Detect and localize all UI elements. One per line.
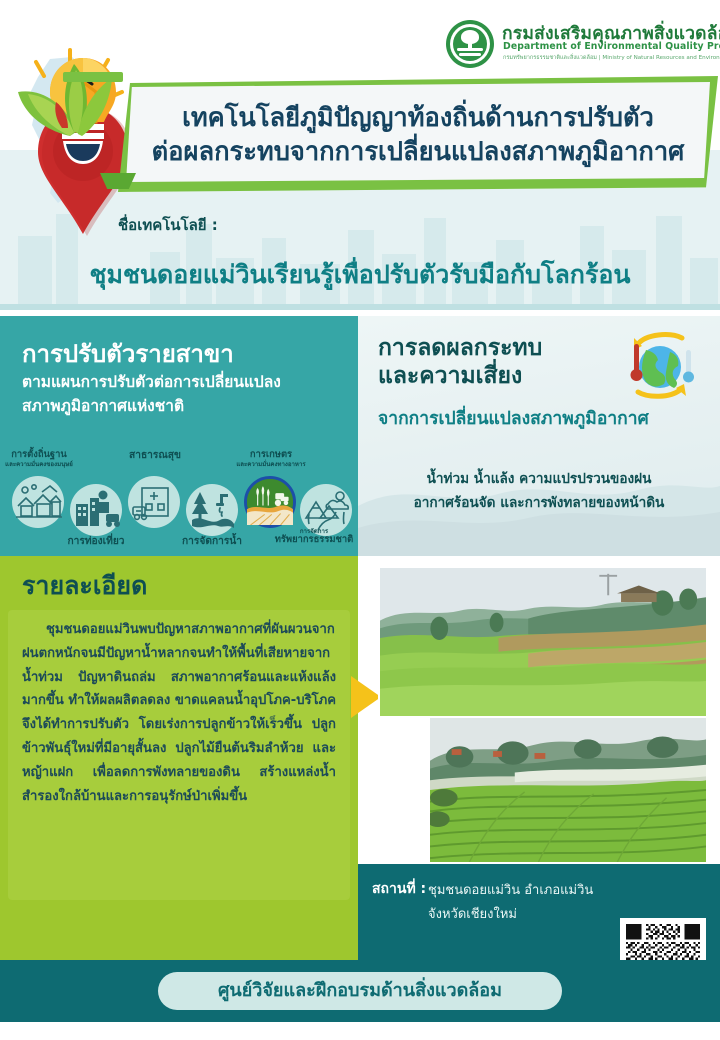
sector-adaptation-panel: การปรับตัวรายสาขา ตามแผนการปรับตัวต่อการ… [0,316,358,556]
yellow-arrow-right-icon [351,676,381,718]
technology-name-label: ชื่อเทคโนโลยี : [118,213,218,237]
sector-label-health: สาธารณสุข [114,450,196,462]
sector-label-water: การจัดการน้ำ [172,536,252,548]
sector-panel-subheading: ตามแผนการปรับตัวต่อการเปลี่ยนแปลง สภาพภู… [22,370,342,418]
location-label: สถานที่ : [372,878,426,900]
water-management-tap-river-icon [186,484,238,536]
poster-root: กรมส่งเสริมคุณภาพสิ่งแวดล้อม Department … [0,0,720,1040]
sector-icon-water[interactable] [186,484,238,536]
org-name-english: Department of Environmental Quality Prom… [503,41,720,52]
deqp-tree-water-emblem-icon [446,20,494,68]
detail-panel-body: ชุมชนดอยแม่วินพบปัญหาสภาพอากาศที่ผันผวนจ… [22,618,336,809]
footer-white-strip [0,1022,720,1040]
risk-reduction-panel: การลดผลกระทบ และความเสี่ยง จากการเปลี่ยน… [358,316,720,556]
detail-text-card: ชุมชนดอยแม่วินพบปัญหาสภาพอากาศที่ผันผวนจ… [8,610,350,900]
risk-panel-heading: การลดผลกระทบ และความเสี่ยง [378,334,542,390]
cold-thermometer-icon [683,350,694,383]
sector-panel-heading: การปรับตัวรายสาขา [22,334,234,373]
agriculture-wheat-tractor-icon [247,479,293,525]
sector-label-tourism: การท่องเที่ยว [58,536,134,548]
risk-panel-subheading: จากการเปลี่ยนแปลงสภาพภูมิอากาศ [378,404,649,432]
sector-icon-row: การตั้งถิ่นฐาน และความมั่นคงของมนุษย์ [0,450,358,554]
center-name-pill: ศูนย์วิจัยและฝึกอบรมด้านสิ่งแวดล้อม [158,972,562,1010]
terraced-rice-field-photo-lower [428,716,708,864]
page-title-line2: ต่อผลกระทบจากการเปลี่ยนแปลงสภาพภูมิอากาศ [126,132,710,172]
globe-thermometer-climate-icon [616,330,702,404]
header-bottom-strip [0,304,720,310]
org-ministry-line: กรมทรัพยากรธรรมชาติและสิ่งแวดล้อม | Mini… [503,54,720,62]
risk-panel-body: น้ำท่วม น้ำแล้ง ความแปรปรวนของฝน อากาศร้… [358,468,720,516]
settlement-village-icon [12,476,64,528]
center-name-text: ศูนย์วิจัยและฝึกอบรมด้านสิ่งแวดล้อม [158,972,562,1010]
sector-icon-health[interactable] [128,476,180,528]
sector-label-agriculture: การเกษตร และความมั่นคงทางอาหาร [228,450,314,468]
location-line1: ชุมชนดอยแม่วิน อำเภอแม่วิน [428,879,593,900]
location-line2: จังหวัดเชียงใหม่ [428,903,517,924]
sector-icon-settlement[interactable] [12,476,64,528]
terraced-rice-field-photo-upper [378,566,708,718]
technology-name-value: ชุมชนดอยแม่วินเรียนรู้เพื่อปรับตัวรับมือ… [0,255,720,295]
public-health-hospital-icon [128,476,180,528]
tourism-city-traveler-icon [70,484,122,536]
sector-icon-agriculture[interactable] [244,476,296,528]
ribbon-tab-decoration [63,72,123,82]
sector-label-settlement: การตั้งถิ่นฐาน และความมั่นคงของมนุษย์ [0,450,78,468]
sector-icon-tourism[interactable] [70,484,122,536]
deqp-logo-block: กรมส่งเสริมคุณภาพสิ่งแวดล้อม Department … [446,19,714,71]
detail-panel-heading: รายละเอียด [22,566,147,606]
detail-panel: รายละเอียด ชุมชนดอยแม่วินพบปัญหาสภาพอากา… [0,556,358,960]
title-ribbon: เทคโนโลยีภูมิปัญญาท้องถิ่นด้านการปรับตัว… [118,76,718,192]
sector-label-natural-resources: การจัดการ ทรัพยากรธรรมชาติ [270,528,358,546]
